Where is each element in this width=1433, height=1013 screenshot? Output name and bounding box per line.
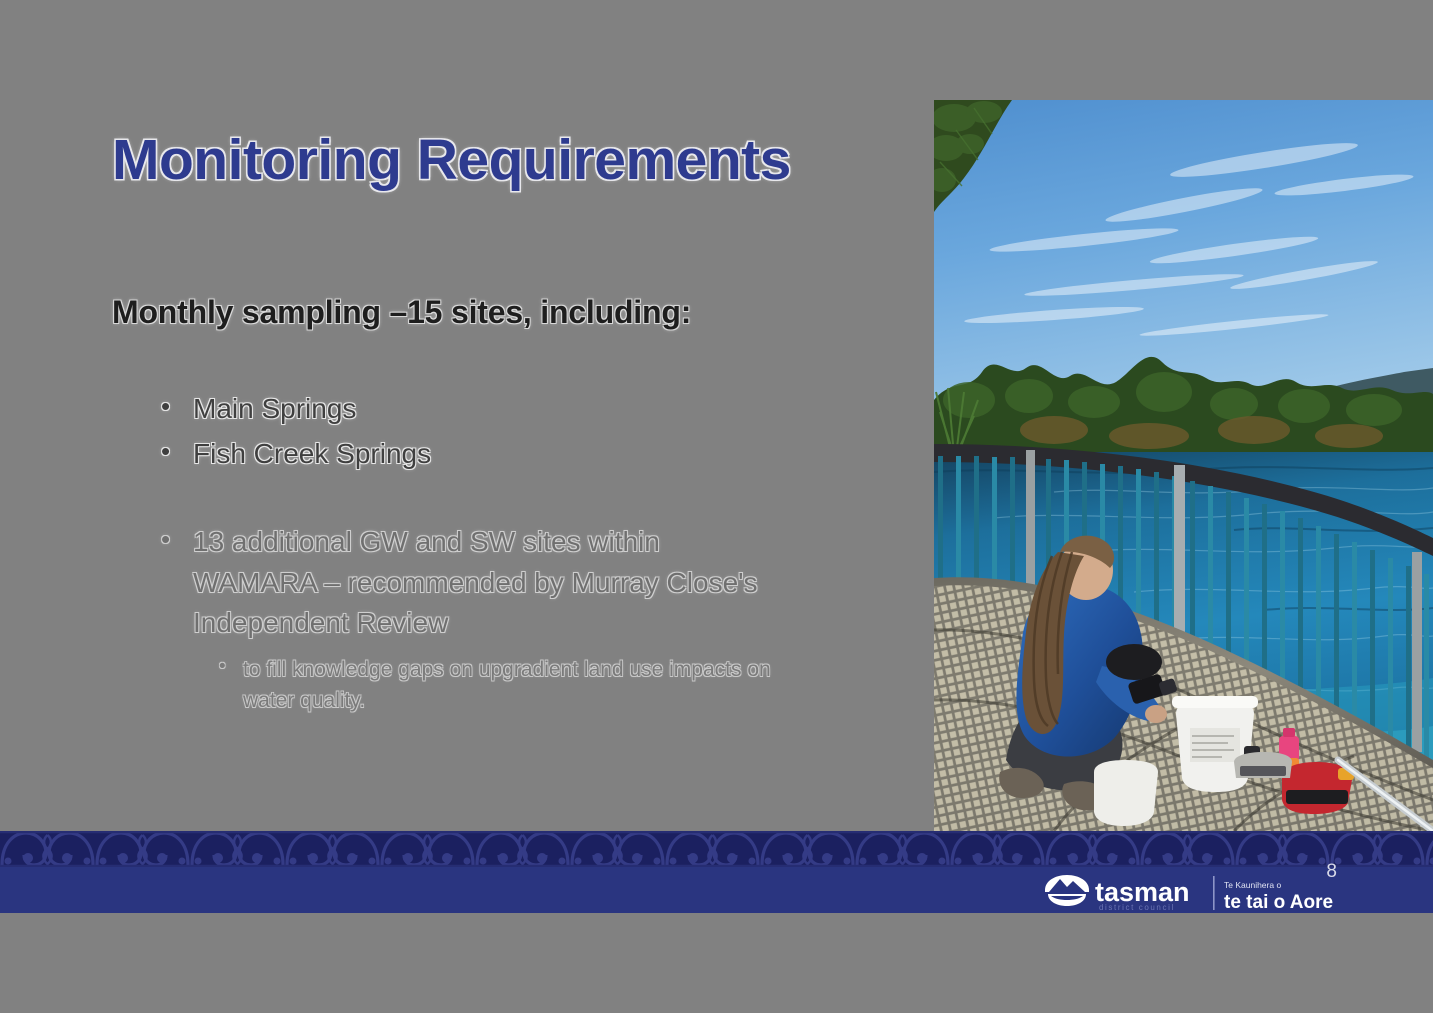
bullet-list: Main Springs Fish Creek Springs 13 addit… [155,389,935,717]
subbullet-line-1: to fill knowledge gaps on upgradient lan… [243,658,771,681]
kowhaiwhai-pattern-band [0,831,1433,867]
logo-maori-small: Te Kaunihera o [1224,880,1281,890]
logo-maori-large: te tai o Aorere [1224,892,1333,913]
bullet-item-main-springs: Main Springs [155,389,935,430]
presentation-slide: Monitoring Requirements Monthly sampling… [0,0,1433,1013]
slide-title: Monitoring Requirements [112,127,912,193]
bullet-item-fish-creek-springs: Fish Creek Springs [155,434,935,475]
subbullet-line-2: water quality. [243,689,365,712]
logo-wordmark-sub: district council [1099,903,1175,912]
tasman-mountain-logo-mark [1045,875,1089,906]
river-water-sampling-photo [934,100,1433,831]
bullet-line-2: WAMARA – recommended by Murray Close's [193,567,757,598]
bullet-item-additional-sites: 13 additional GW and SW sites within WAM… [155,522,935,644]
bullet-line-3: Independent Review [193,607,448,638]
bullet-line-1: 13 additional GW and SW sites within [193,526,660,557]
subbullet-item-knowledge-gaps: to fill knowledge gaps on upgradient lan… [213,654,935,717]
slide-subtitle: Monthly sampling –15 sites, including: [112,294,922,331]
tasman-district-council-logo: tasman district council Te Kaunihera o t… [1043,874,1333,913]
